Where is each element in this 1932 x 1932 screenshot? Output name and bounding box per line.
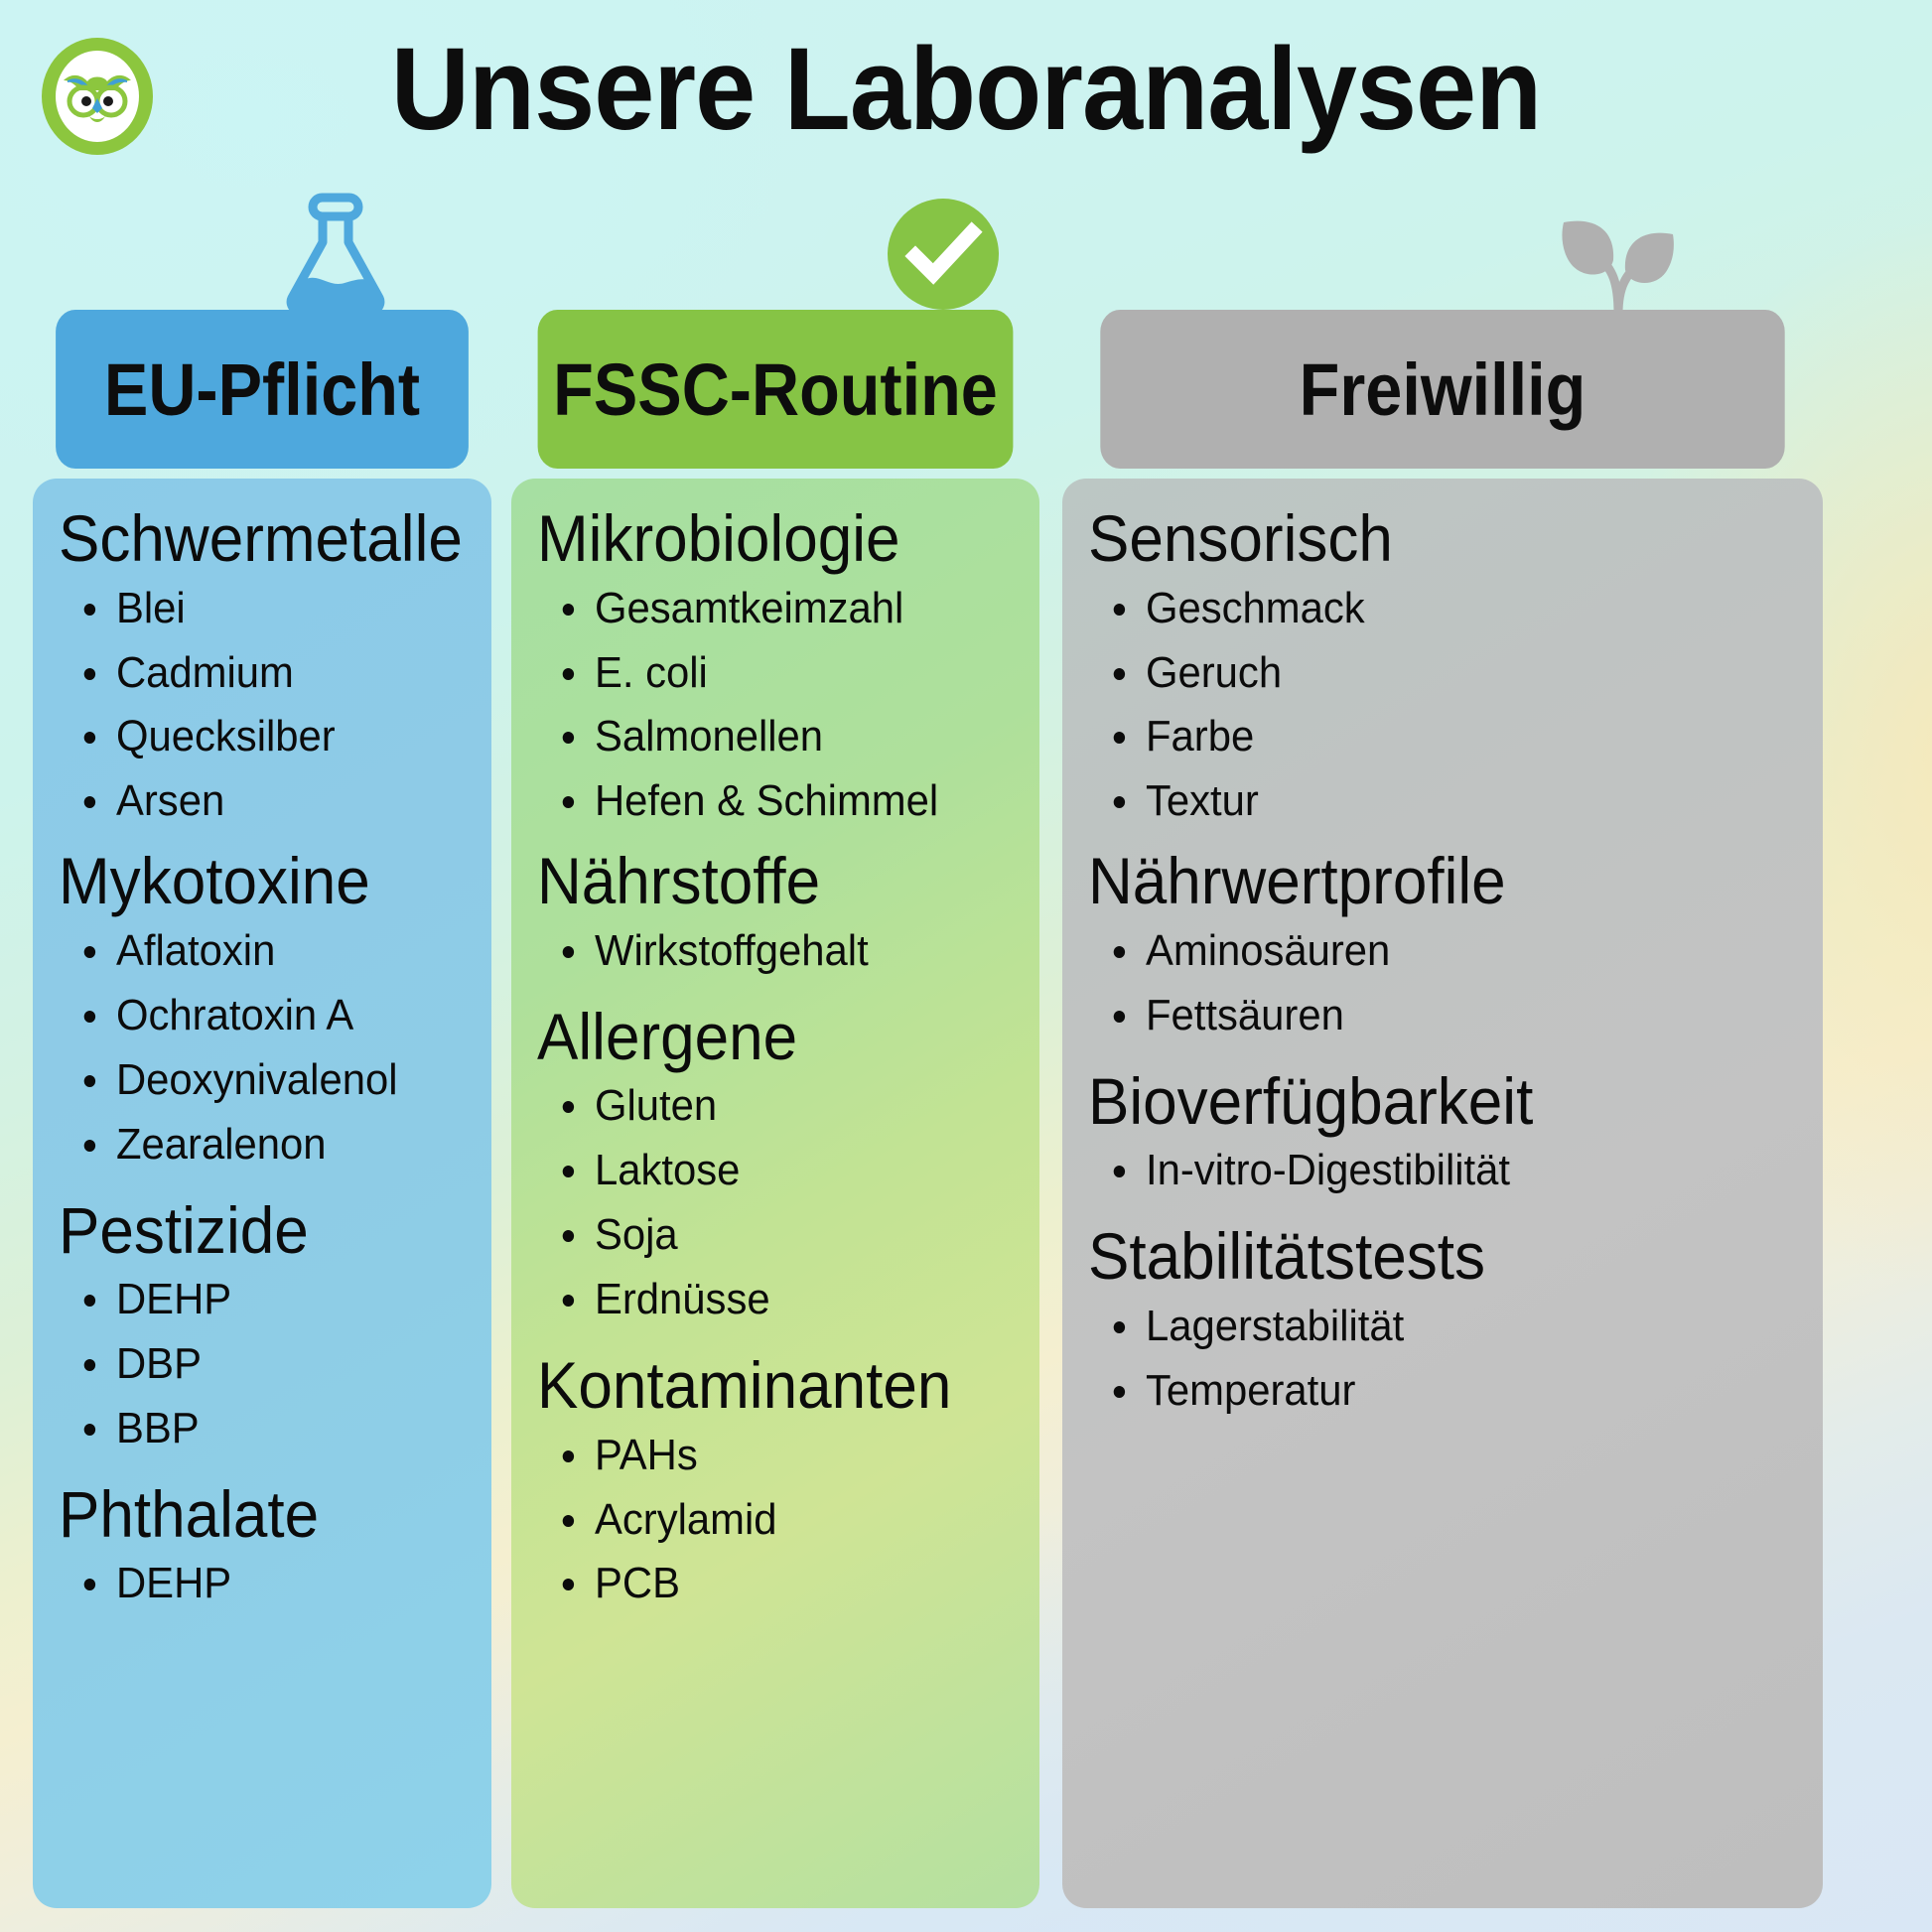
group-title: Stabilitätstests	[1088, 1222, 1758, 1291]
list-item: Blei	[116, 583, 452, 634]
group-item-list: Gesamtkeimzahl E. coli Salmonellen Hefen…	[533, 583, 1018, 828]
list-item: PCB	[595, 1558, 997, 1609]
group-item-list: Wirkstoffgehalt	[533, 925, 1018, 977]
group-title: Mykotoxine	[59, 847, 445, 915]
list-item: Quecksilber	[116, 711, 452, 762]
group-item-list: In-vitro-Digestibilität	[1084, 1145, 1801, 1196]
icon-slot-col3	[1315, 185, 1921, 314]
group-item-list: Geschmack Geruch Farbe Textur	[1084, 583, 1801, 828]
column-freiwillig: Freiwillig Sensorisch Geschmack Geruch F…	[1062, 310, 1823, 1908]
list-item: Geruch	[1146, 647, 1768, 699]
group-title: Kontaminanten	[537, 1351, 989, 1420]
list-item: Hefen & Schimmel	[595, 775, 997, 827]
header-bar: Unsere Laboranalysen	[0, 0, 1932, 189]
column-body-freiwillig: Sensorisch Geschmack Geruch Farbe Textur…	[1062, 479, 1823, 1908]
column-body-eu-pflicht: Schwermetalle Blei Cadmium Quecksilber A…	[33, 479, 491, 1908]
list-item: Farbe	[1146, 711, 1768, 762]
page-title: Unsere Laboranalysen	[68, 28, 1864, 152]
list-item: Aminosäuren	[1146, 925, 1768, 977]
flask-icon	[277, 189, 394, 314]
group-item-list: Gluten Laktose Soja Erdnüsse	[533, 1080, 1018, 1325]
list-item: Soja	[595, 1209, 997, 1261]
group-item-list: DEHP DBP BBP	[55, 1274, 470, 1454]
group-item-list: Aflatoxin Ochratoxin A Deoxynivalenol Ze…	[55, 925, 470, 1171]
list-item: Deoxynivalenol	[116, 1054, 452, 1106]
group-item-list: Blei Cadmium Quecksilber Arsen	[55, 583, 470, 828]
list-item: Zearalenon	[116, 1119, 452, 1171]
list-item: Gluten	[595, 1080, 997, 1132]
list-item: PAHs	[595, 1430, 997, 1481]
list-item: Arsen	[116, 775, 452, 827]
group-title: Bioverfügbarkeit	[1088, 1067, 1758, 1136]
list-item: Aflatoxin	[116, 925, 452, 977]
list-item: E. coli	[595, 647, 997, 699]
group-title: Phthalate	[59, 1480, 445, 1549]
group-title: Nährwertprofile	[1088, 847, 1758, 915]
list-item: Acrylamid	[595, 1494, 997, 1546]
column-header-freiwillig[interactable]: Freiwillig	[1100, 310, 1784, 469]
group-title: Allergene	[537, 1003, 989, 1071]
list-item: In-vitro-Digestibilität	[1146, 1145, 1768, 1196]
list-item: Lagerstabilität	[1146, 1301, 1768, 1352]
list-item: Salmonellen	[595, 711, 997, 762]
check-circle-icon	[884, 195, 1003, 314]
group-title: Pestizide	[59, 1196, 445, 1265]
column-eu-pflicht: EU-Pflicht Schwermetalle Blei Cadmium Qu…	[33, 310, 491, 1908]
list-item: Laktose	[595, 1145, 997, 1196]
icon-slot-col2	[640, 185, 1246, 314]
list-item: Fettsäuren	[1146, 990, 1768, 1041]
column-header-fssc-routine[interactable]: FSSC-Routine	[538, 310, 1014, 469]
columns-container: EU-Pflicht Schwermetalle Blei Cadmium Qu…	[0, 310, 1932, 1918]
group-item-list: Lagerstabilität Temperatur	[1084, 1301, 1801, 1417]
list-item: Cadmium	[116, 647, 452, 699]
list-item: Wirkstoffgehalt	[595, 925, 997, 977]
list-item: Erdnüsse	[595, 1274, 997, 1325]
list-item: Textur	[1146, 775, 1768, 827]
group-title: Nährstoffe	[537, 847, 989, 915]
group-title: Schwermetalle	[59, 504, 445, 573]
leaf-sprout-icon	[1556, 189, 1681, 314]
list-item: Gesamtkeimzahl	[595, 583, 997, 634]
list-item: DBP	[116, 1338, 452, 1390]
infographic-page: Unsere Laboranalysen	[0, 0, 1932, 1932]
group-item-list: PAHs Acrylamid PCB	[533, 1430, 1018, 1610]
group-item-list: Aminosäuren Fettsäuren	[1084, 925, 1801, 1041]
list-item: Temperatur	[1146, 1365, 1768, 1417]
list-item: Ochratoxin A	[116, 990, 452, 1041]
group-item-list: DEHP	[55, 1558, 470, 1609]
list-item: BBP	[116, 1403, 452, 1454]
icon-row	[0, 185, 1932, 314]
group-title: Mikrobiologie	[537, 504, 989, 573]
group-title: Sensorisch	[1088, 504, 1758, 573]
icon-slot-col1	[33, 185, 638, 314]
list-item: DEHP	[116, 1558, 452, 1609]
list-item: DEHP	[116, 1274, 452, 1325]
column-fssc-routine: FSSC-Routine Mikrobiologie Gesamtkeimzah…	[511, 310, 1039, 1908]
column-body-fssc-routine: Mikrobiologie Gesamtkeimzahl E. coli Sal…	[511, 479, 1039, 1908]
column-header-eu-pflicht[interactable]: EU-Pflicht	[56, 310, 469, 469]
list-item: Geschmack	[1146, 583, 1768, 634]
